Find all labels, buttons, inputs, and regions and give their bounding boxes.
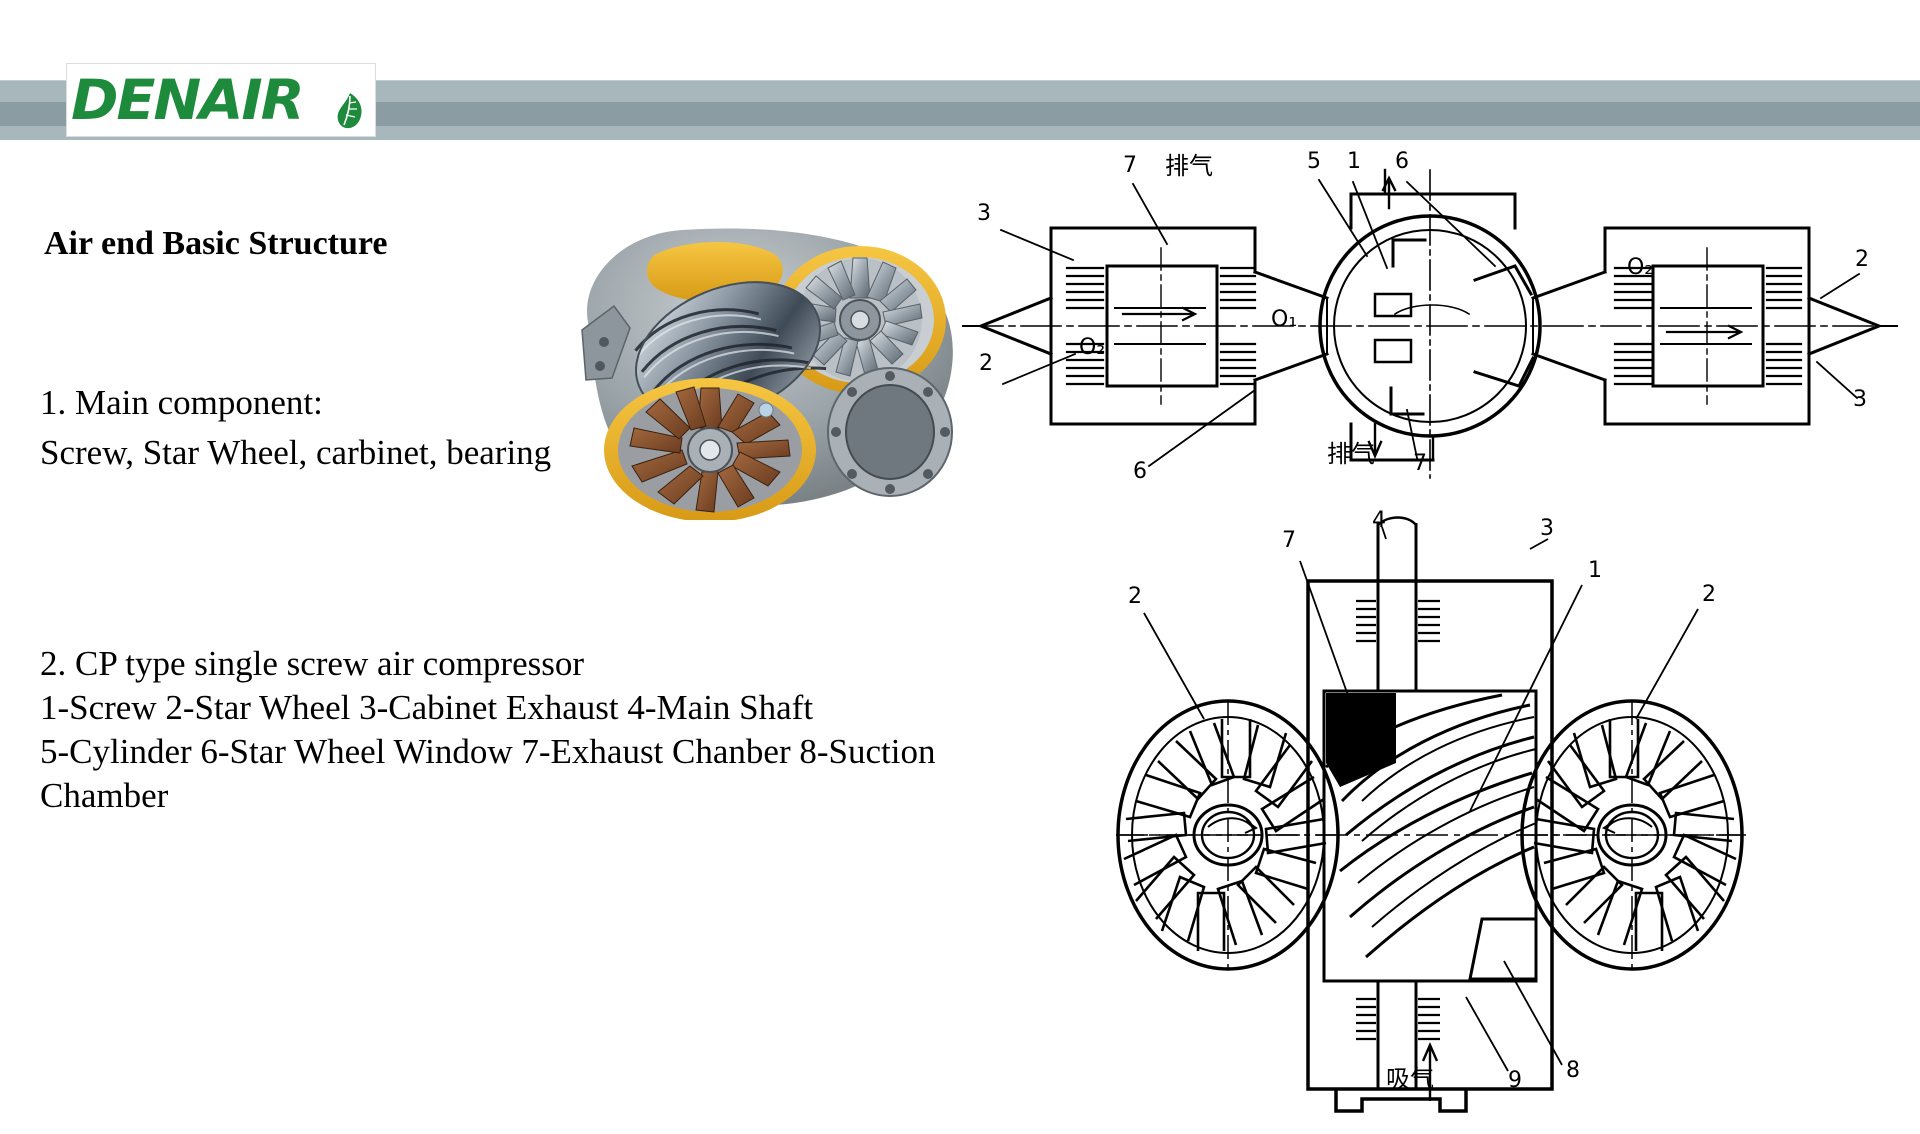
section2-line3: Chamber — [40, 774, 980, 818]
diagram-top-label-o1: O₁ — [1271, 307, 1297, 332]
section2-line1: 1-Screw 2-Star Wheel 3-Cabinet Exhaust 4… — [40, 686, 980, 730]
diagram-top-label-exhaust-top: 排气 — [1165, 152, 1213, 180]
diagram-bottom-label-suction: 吸气 — [1386, 1065, 1434, 1093]
diagram-top-label-7b: 7 — [1413, 451, 1427, 476]
diagram-top-label-o2: O₂ — [1079, 335, 1105, 360]
diagram-top-label-2a: 2 — [979, 351, 993, 376]
diagram-bottom-label-8: 8 — [1566, 1058, 1580, 1083]
diagram-top-label-7a: 7 — [1123, 153, 1137, 178]
diagram-top-label-1: 1 — [1347, 149, 1361, 174]
diagram-bottom-label-4: 4 — [1372, 508, 1386, 533]
section-cp-type: 2. CP type single screw air compressor 1… — [40, 642, 980, 818]
section2-line2: 5-Cylinder 6-Star Wheel Window 7-Exhaust… — [40, 730, 980, 774]
diagram-top-label-3b: 3 — [1853, 387, 1867, 412]
diagram-bottom-label-1: 1 — [1588, 558, 1602, 583]
diagram-bottom-label-2b: 2 — [1702, 582, 1716, 607]
logo-inner: DENAIR — [67, 64, 375, 136]
radial-section-diagram: 4 3 7 1 2 2 吸气 9 8 — [955, 505, 1905, 1125]
leaf-icon — [333, 91, 367, 131]
diagram-top-label-3a: 3 — [977, 201, 991, 226]
logo-wordmark: DENAIR — [71, 66, 303, 134]
air-end-cutaway-photo — [560, 210, 980, 520]
axial-section-diagram: 7 排气 5 1 6 3 2 2 3 O₁ O₂ O₂ 6 排气 7 — [955, 148, 1905, 508]
diagram-top-label-exhaust-bottom: 排气 — [1327, 440, 1375, 468]
diagram-bottom-label-9: 9 — [1508, 1068, 1522, 1093]
diagram-top-label-6a: 6 — [1395, 149, 1409, 174]
diagram-bottom-label-3: 3 — [1540, 516, 1554, 541]
diagram-top-label-o3: O₂ — [1627, 255, 1653, 280]
denair-logo: DENAIR — [66, 63, 376, 137]
diagram-top-label-5: 5 — [1307, 149, 1321, 174]
diagram-top-label-6b: 6 — [1133, 459, 1147, 484]
section2-heading: 2. CP type single screw air compressor — [40, 642, 980, 686]
diagram-top-label-2b: 2 — [1855, 247, 1869, 272]
diagram-bottom-label-7: 7 — [1282, 528, 1296, 553]
diagram-bottom-label-2a: 2 — [1128, 584, 1142, 609]
